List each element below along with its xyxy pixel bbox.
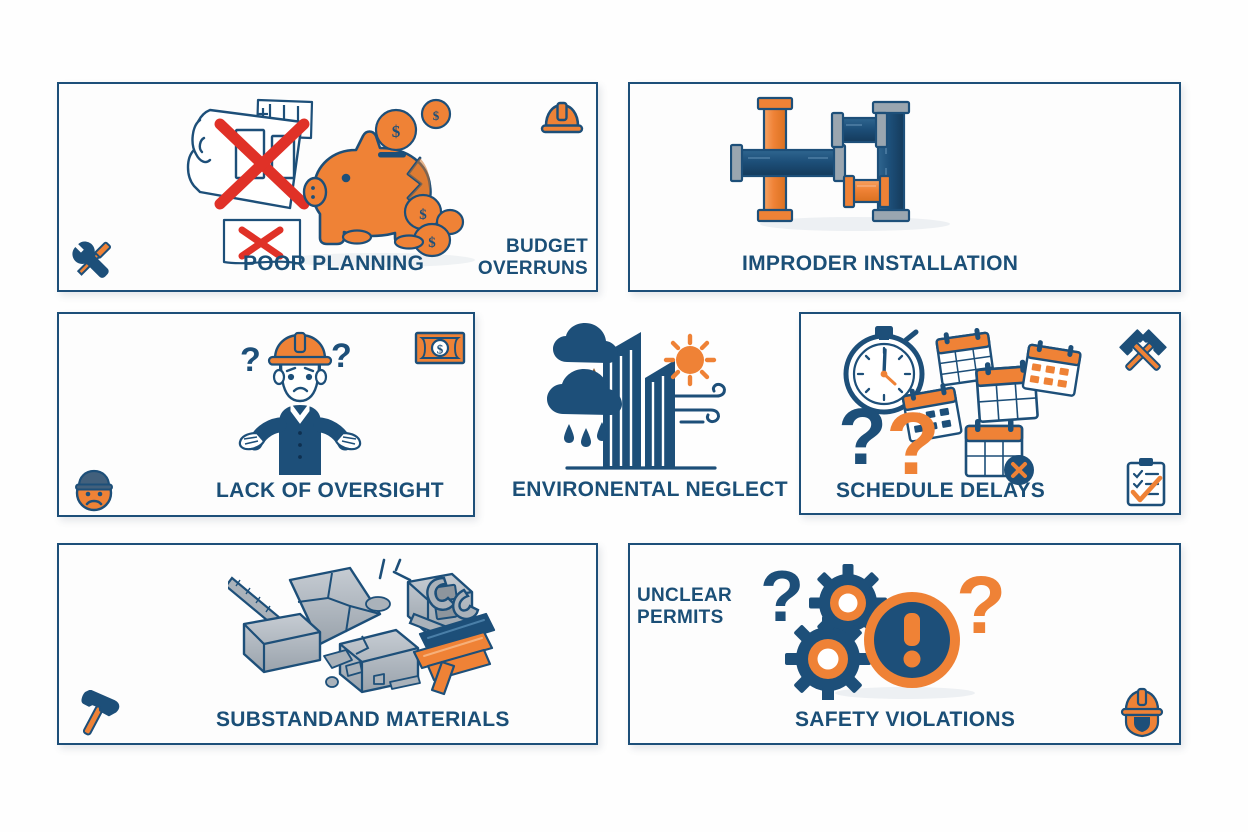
panel-label-poor-planning: POOR PLANNING	[243, 252, 424, 276]
hard-hat-icon	[539, 95, 585, 141]
label-environmental-neglect: ENVIRONENTAL NEGLECT	[512, 478, 788, 502]
panel-label-schedule-delays: SCHEDULE DELAYS	[836, 479, 1045, 503]
unclear-permits-line-2: PERMITS	[637, 607, 747, 629]
label-unclear-permits: UNCLEAR PERMITS	[637, 585, 747, 628]
budget-overruns-line-2: OVERRUNS	[472, 258, 588, 280]
panel-label-improper-installation: IMPRODER INSTALLATION	[742, 252, 1018, 276]
crossed-hammers-icon	[1117, 327, 1169, 379]
infographic-canvas: $ $ $ $ POOR PLANNING BUDG	[0, 0, 1248, 832]
artwork-environmental-neglect	[545, 318, 745, 470]
safety-helmet-shield-icon	[1118, 686, 1166, 738]
panel-label-lack-of-oversight: LACK OF OVERSIGHT	[216, 479, 444, 503]
clipboard-checklist-icon	[1122, 456, 1170, 508]
panel-label-safety-violations: SAFETY VIOLATIONS	[795, 708, 1015, 732]
wrench-screwdriver-icon	[68, 234, 118, 284]
sad-worker-face-icon	[70, 466, 118, 514]
unclear-permits-line-1: UNCLEAR	[637, 585, 747, 607]
label-budget-overruns: BUDGET OVERRUNS	[472, 236, 588, 279]
hammer-icon	[72, 690, 120, 738]
panel-label-substandard-materials: SUBSTANDAND MATERIALS	[216, 708, 510, 732]
budget-overruns-line-1: BUDGET	[472, 236, 588, 258]
money-bill-icon: $	[414, 330, 466, 366]
svg-text:$: $	[437, 342, 444, 357]
